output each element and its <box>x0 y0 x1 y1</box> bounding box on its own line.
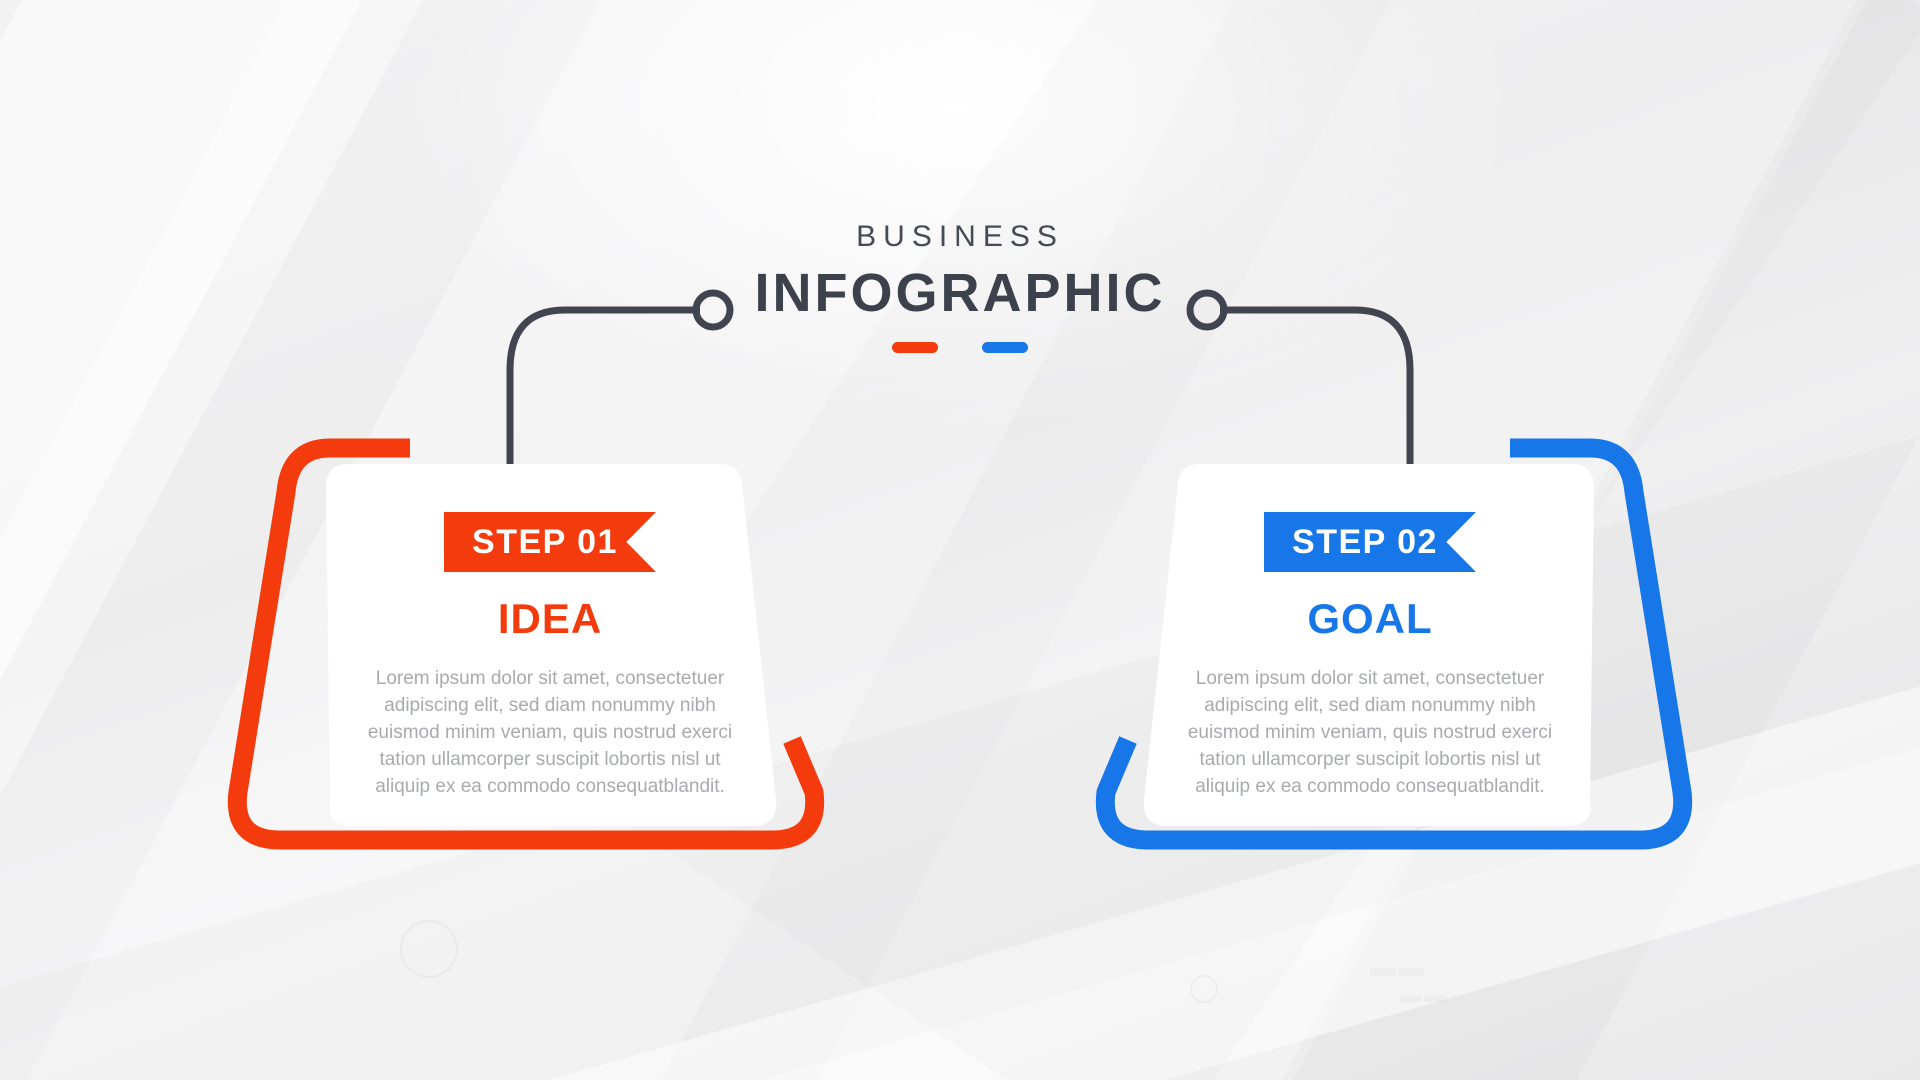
step-title-1: IDEA <box>290 598 810 640</box>
header-accent-dashes <box>0 342 1920 353</box>
step-badge-1: STEP 01 <box>444 512 656 572</box>
background-circle-decoration <box>400 920 458 978</box>
background-circle-decoration <box>1190 975 1218 1003</box>
step-body-2: Lorem ipsum dolor sit amet, consectetuer… <box>1184 666 1556 801</box>
accent-dash-blue <box>982 342 1028 353</box>
step-title-2: GOAL <box>1110 598 1630 640</box>
step-badge-1-wrap: STEP 01 <box>444 512 656 572</box>
step-body-1: Lorem ipsum dolor sit amet, consectetuer… <box>364 666 736 801</box>
infographic-canvas: ▬▬ ▬▬ BUSINESS INFOGRAPHIC STEP 01 <box>0 0 1920 1080</box>
step-card-1-content: STEP 01 IDEA Lorem ipsum dolor sit amet,… <box>290 512 810 801</box>
step-badge-2-wrap: STEP 02 <box>1264 512 1476 572</box>
header: BUSINESS INFOGRAPHIC <box>0 222 1920 353</box>
step-card-2-content: STEP 02 GOAL Lorem ipsum dolor sit amet,… <box>1110 512 1630 801</box>
step-card-1[interactable]: STEP 01 IDEA Lorem ipsum dolor sit amet,… <box>230 440 870 860</box>
step-card-2[interactable]: STEP 02 GOAL Lorem ipsum dolor sit amet,… <box>1050 440 1690 860</box>
accent-dash-orange <box>892 342 938 353</box>
step-badge-2: STEP 02 <box>1264 512 1476 572</box>
page-title: INFOGRAPHIC <box>0 266 1920 320</box>
background-watermark: ▬▬ <box>1370 952 1426 983</box>
background-watermark: ▬▬ <box>1400 982 1448 1008</box>
header-subtitle: BUSINESS <box>0 222 1920 252</box>
